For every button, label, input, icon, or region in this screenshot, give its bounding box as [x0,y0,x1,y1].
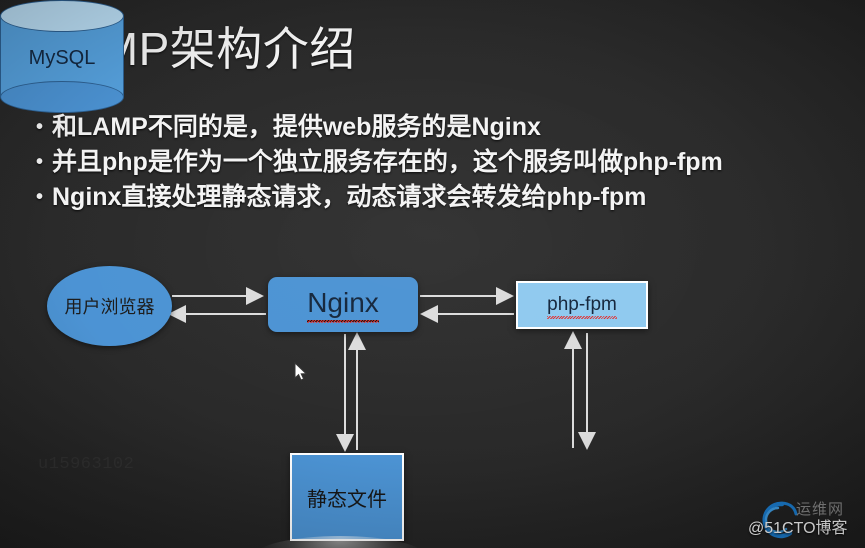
diagram-node-static-files[interactable]: 静态文件 [290,453,404,541]
watermark-user-id: u15963102 [38,455,134,474]
node-label-browser: 用户浏览器 [65,293,155,319]
logo-primary-text: @51CTO博客 [748,514,848,538]
site-logo: 运维网 @51CTO博客 [748,494,860,546]
cylinder-bottom [0,81,124,113]
mouse-cursor-icon [294,362,308,382]
slide-canvas: LNMP架构介绍 • 和LAMP不同的是，提供web服务的是Nginx • 并且… [0,0,865,548]
cylinder-top [0,0,124,32]
node-label-nginx: Nginx [307,287,379,322]
diagram-node-mysql[interactable]: MySQL [0,0,124,113]
node-label-static-files: 静态文件 [307,483,387,512]
diagram-node-phpfpm[interactable]: php-fpm [516,281,648,329]
diagram-node-nginx[interactable]: Nginx [268,277,418,332]
diagram-node-browser[interactable]: 用户浏览器 [47,266,172,346]
node-label-phpfpm: php-fpm [547,294,617,316]
node-label-mysql: MySQL [0,38,124,78]
